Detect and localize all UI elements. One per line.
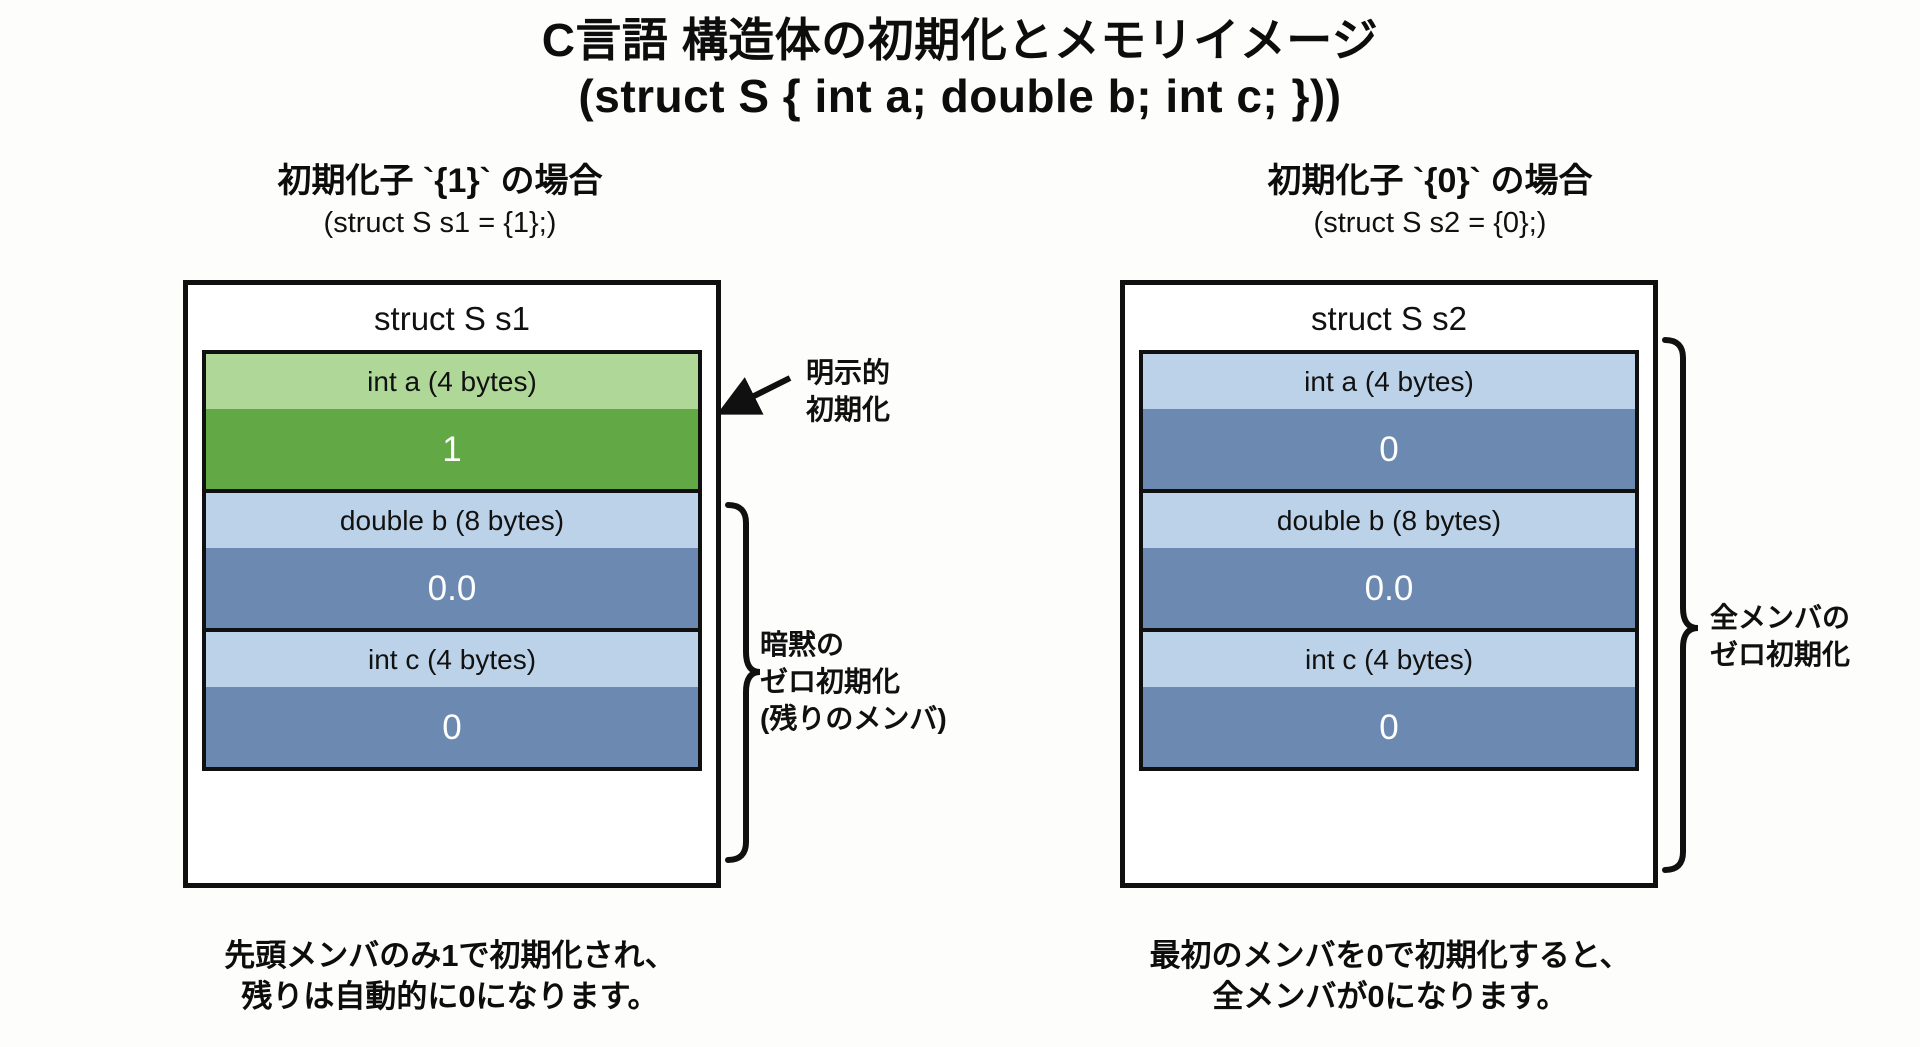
member-value-a-s2: 0 — [1143, 409, 1635, 489]
member-list-s2: int a (4 bytes) 0 double b (8 bytes) 0.0… — [1139, 350, 1639, 771]
panel-heading-title-s1: 初期化子 `{1}` の場合 — [120, 160, 760, 203]
annotation-all-members-zero: 全メンバの ゼロ初期化 — [1710, 600, 1850, 674]
member-name-b-s1: double b (8 bytes) — [206, 493, 698, 548]
member-name-a-s1: int a (4 bytes) — [206, 354, 698, 409]
panel-heading-subtitle-s1: (struct S s1 = {1};) — [120, 205, 760, 241]
member-name-c-s1: int c (4 bytes) — [206, 632, 698, 687]
member-value-c-s1: 0 — [206, 687, 698, 767]
member-value-a-s1: 1 — [206, 409, 698, 489]
annotation-implicit-zero-init: 暗黙の ゼロ初期化 (残りのメンバ) — [760, 627, 947, 738]
title-line-2: (struct S { int a; double b; int c; })) — [0, 68, 1920, 124]
all-zero-brace — [1665, 340, 1698, 870]
member-row-a-s1: int a (4 bytes) 1 — [206, 354, 698, 493]
diagram-title: C言語 構造体の初期化とメモリイメージ (struct S { int a; d… — [0, 12, 1920, 124]
member-row-a-s2: int a (4 bytes) 0 — [1143, 354, 1635, 493]
struct-label-s1: struct S s1 — [188, 285, 716, 350]
struct-box-s1: struct S s1 int a (4 bytes) 1 double b (… — [183, 280, 721, 888]
panel-heading-title-s2: 初期化子 `{0}` の場合 — [1110, 160, 1750, 203]
annotation-explicit-init: 明示的 初期化 — [806, 355, 890, 429]
member-row-c-s1: int c (4 bytes) 0 — [206, 632, 698, 767]
member-name-a-s2: int a (4 bytes) — [1143, 354, 1635, 409]
member-value-b-s2: 0.0 — [1143, 548, 1635, 628]
member-row-b-s2: double b (8 bytes) 0.0 — [1143, 493, 1635, 632]
member-value-b-s1: 0.0 — [206, 548, 698, 628]
struct-label-s2: struct S s2 — [1125, 285, 1653, 350]
implicit-init-brace — [728, 505, 760, 860]
member-name-c-s2: int c (4 bytes) — [1143, 632, 1635, 687]
caption-s2: 最初のメンバを0で初期化すると、 全メンバが0になります。 — [1010, 935, 1770, 1017]
member-list-s1: int a (4 bytes) 1 double b (8 bytes) 0.0… — [202, 350, 702, 771]
explicit-init-arrow — [722, 378, 790, 412]
member-row-c-s2: int c (4 bytes) 0 — [1143, 632, 1635, 767]
caption-s1: 先頭メンバのみ1で初期化され、 残りは自動的に0になります。 — [100, 935, 800, 1017]
member-name-b-s2: double b (8 bytes) — [1143, 493, 1635, 548]
struct-box-s2: struct S s2 int a (4 bytes) 0 double b (… — [1120, 280, 1658, 888]
panel-heading-subtitle-s2: (struct S s2 = {0};) — [1110, 205, 1750, 241]
panel-heading-s1: 初期化子 `{1}` の場合 (struct S s1 = {1};) — [120, 160, 760, 241]
member-row-b-s1: double b (8 bytes) 0.0 — [206, 493, 698, 632]
member-value-c-s2: 0 — [1143, 687, 1635, 767]
title-line-1: C言語 構造体の初期化とメモリイメージ — [0, 12, 1920, 68]
diagram-canvas: C言語 構造体の初期化とメモリイメージ (struct S { int a; d… — [0, 0, 1920, 1047]
panel-heading-s2: 初期化子 `{0}` の場合 (struct S s2 = {0};) — [1110, 160, 1750, 241]
